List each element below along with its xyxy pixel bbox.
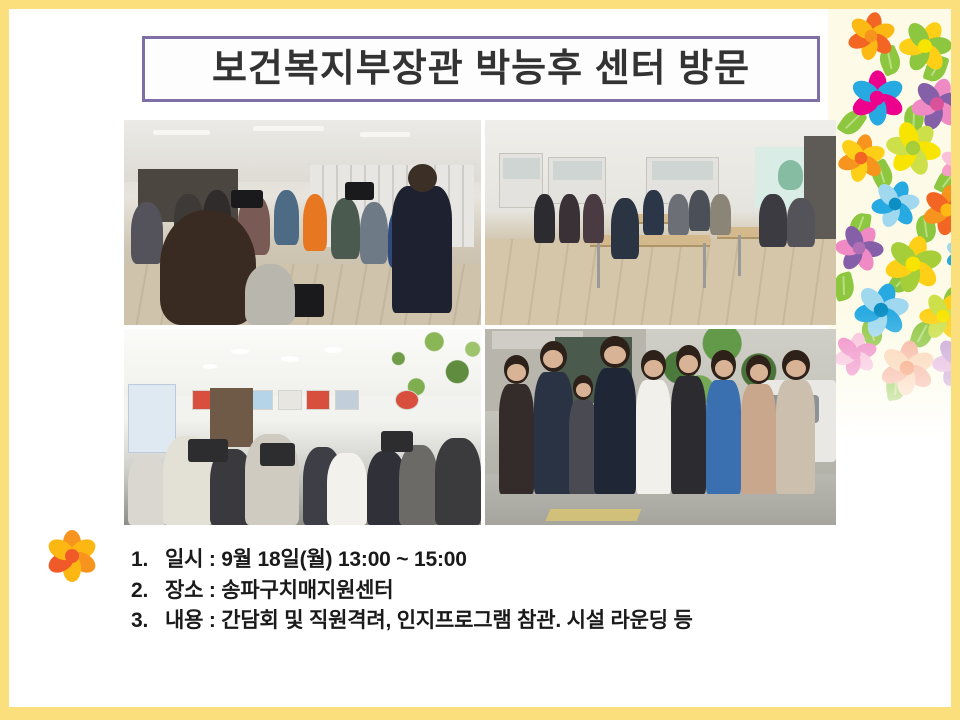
frame-left-border (0, 0, 9, 720)
list-item-number: 2. (131, 577, 165, 605)
list-item-text: 장소 : 송파구치매지원센터 (165, 577, 393, 605)
flower-icon (939, 144, 951, 183)
photo-grid: 센터 내부 기자회견 및 취재진 간담회 회의실 테이블 (124, 120, 836, 525)
list-item-number: 3. (131, 607, 165, 635)
frame-bottom-border (0, 707, 960, 720)
frame-top-border (0, 0, 960, 9)
photo-lobby-press[interactable]: 센터 로비 취재진 인터뷰 장면 (124, 329, 481, 525)
title-box: 보건복지부장관 박능후 센터 방문 (142, 36, 820, 102)
list-item: 1. 일시 : 9월 18일(월) 13:00 ~ 15:00 (131, 546, 891, 574)
photo-group-outdoor[interactable]: 센터 앞 단체 기념사진 (485, 329, 836, 525)
flower-pattern-band (828, 9, 951, 439)
list-item-text: 일시 : 9월 18일(월) 13:00 ~ 15:00 (165, 546, 467, 574)
slide-canvas: 보건복지부장관 박능후 센터 방문 센터 내부 (0, 0, 960, 720)
list-item-number: 1. (131, 546, 165, 574)
accent-flower-icon (44, 528, 100, 584)
flower-icon (945, 236, 951, 273)
list-item: 3. 내용 : 간담회 및 직원격려, 인지프로그램 참관. 시설 라운딩 등 (131, 607, 891, 635)
page-title: 보건복지부장관 박능후 센터 방문 (212, 50, 750, 88)
flower-icon (829, 328, 881, 380)
list-item-text: 내용 : 간담회 및 직원격려, 인지프로그램 참관. 시설 라운딩 등 (165, 607, 693, 635)
photo-press-room[interactable]: 센터 내부 기자회견 및 취재진 (124, 120, 481, 325)
photo-meeting-room[interactable]: 간담회 회의실 테이블 착석 장면 (485, 120, 836, 325)
flower-icon (918, 181, 951, 238)
list-item: 2. 장소 : 송파구치매지원센터 (131, 577, 891, 605)
frame-right-border (951, 0, 960, 720)
flower-icon (849, 70, 904, 125)
info-list: 1. 일시 : 9월 18일(월) 13:00 ~ 15:00 2. 장소 : … (131, 546, 891, 638)
